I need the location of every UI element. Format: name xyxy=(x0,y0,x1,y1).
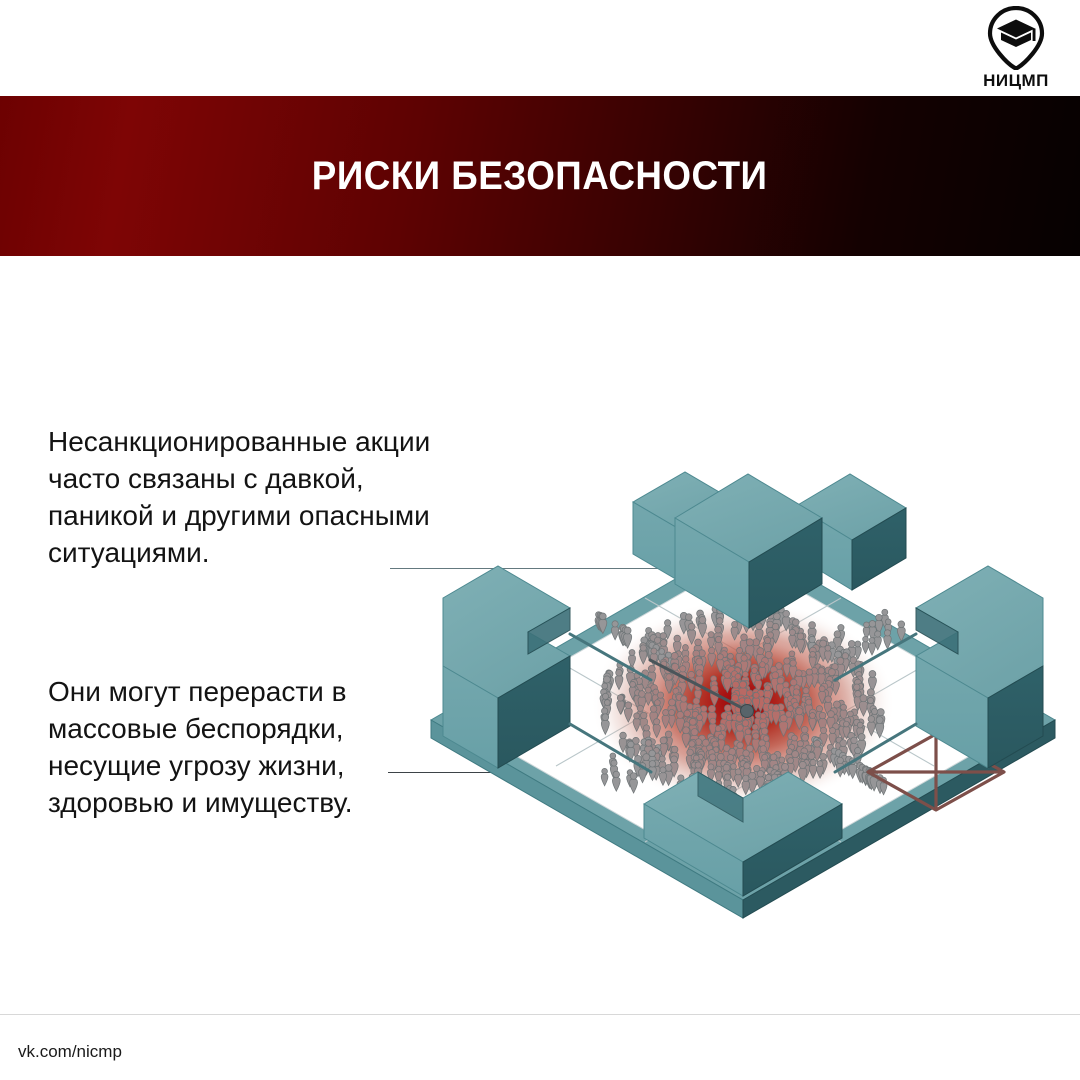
callout-text-1: Несанкционированные акции часто связаны … xyxy=(48,424,438,572)
footer-divider xyxy=(0,1014,1080,1015)
page-title: РИСКИ БЕЗОПАСНОСТИ xyxy=(312,154,768,199)
footer-link[interactable]: vk.com/nicmp xyxy=(18,1042,122,1062)
nicmp-logo: НИЦМП xyxy=(964,6,1068,92)
isometric-crowd-illustration xyxy=(398,372,1080,928)
isometric-scene-svg xyxy=(398,372,1080,928)
title-banner: РИСКИ БЕЗОПАСНОСТИ xyxy=(0,96,1080,256)
logo-wordmark: НИЦМП xyxy=(964,71,1068,91)
callout-text-2: Они могут перерасти в массовые беспорядк… xyxy=(48,674,438,822)
map-pin-graduation-cap-icon xyxy=(985,6,1047,70)
